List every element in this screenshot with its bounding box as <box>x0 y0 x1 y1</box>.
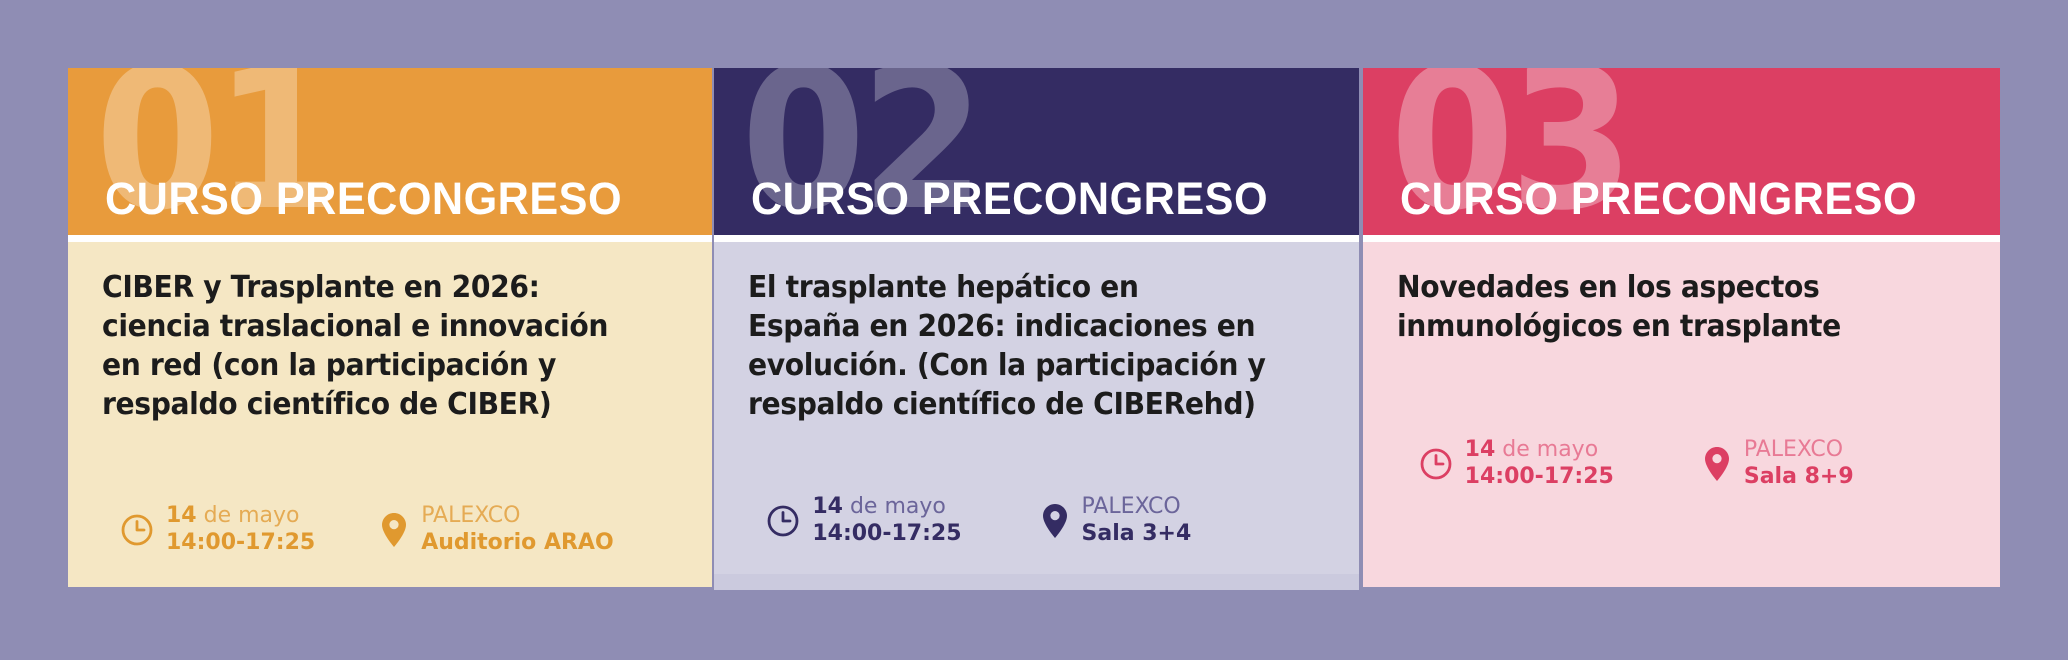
card-header-02: 02 CURSO PRECONGRESO <box>714 68 1358 235</box>
card-kicker-03: CURSO PRECONGRESO <box>1400 176 1917 221</box>
venue-line-01: PALEXCO <box>421 503 613 530</box>
course-card-03[interactable]: 03 CURSO PRECONGRESO Novedades en los as… <box>1363 68 2000 587</box>
venue-line-02: PALEXCO <box>1082 494 1192 521</box>
card-footer-strip-02 <box>714 574 1358 590</box>
card-location-03: PALEXCO Sala 8+9 <box>1702 437 1854 491</box>
room-line-02: Sala 3+4 <box>1082 521 1192 548</box>
card-meta-row-03: 14 de mayo 14:00-17:25 PALEXCO Sala 8+9 <box>1397 437 1970 491</box>
card-header-03: 03 CURSO PRECONGRESO <box>1363 68 2000 235</box>
venue-line-03: PALEXCO <box>1744 437 1854 464</box>
card-title-02: El trasplante hepático en España en 2026… <box>748 268 1290 424</box>
time-line-01: 14:00-17:25 <box>166 530 315 557</box>
course-card-01[interactable]: 01 CURSO PRECONGRESO CIBER y Trasplante … <box>68 68 712 587</box>
card-location-01: PALEXCO Auditorio ARAO <box>379 503 613 557</box>
clock-icon <box>1419 447 1453 481</box>
card-title-03: Novedades en los aspectos inmunológicos … <box>1397 268 1932 346</box>
date-line-02: 14 de mayo <box>812 494 961 521</box>
card-kicker-01: CURSO PRECONGRESO <box>105 176 622 221</box>
card-location-02: PALEXCO Sala 3+4 <box>1040 494 1192 548</box>
datetime-text-03: 14 de mayo 14:00-17:25 <box>1465 437 1614 491</box>
datetime-text-01: 14 de mayo 14:00-17:25 <box>166 503 315 557</box>
card-body-02: El trasplante hepático en España en 2026… <box>714 242 1358 590</box>
card-datetime-01: 14 de mayo 14:00-17:25 <box>120 503 315 557</box>
room-line-01: Auditorio ARAO <box>421 530 613 557</box>
card-meta-row-01: 14 de mayo 14:00-17:25 PALEXCO Auditorio… <box>102 503 682 557</box>
map-pin-icon <box>379 511 409 549</box>
clock-icon <box>120 513 154 547</box>
clock-icon <box>766 504 800 538</box>
card-title-01: CIBER y Trasplante en 2026: ciencia tras… <box>102 268 644 424</box>
location-text-01: PALEXCO Auditorio ARAO <box>421 503 613 557</box>
time-line-03: 14:00-17:25 <box>1465 464 1614 491</box>
map-pin-icon <box>1040 502 1070 540</box>
time-line-02: 14:00-17:25 <box>812 521 961 548</box>
card-body-01: CIBER y Trasplante en 2026: ciencia tras… <box>68 242 712 587</box>
room-line-03: Sala 8+9 <box>1744 464 1854 491</box>
card-kicker-02: CURSO PRECONGRESO <box>751 176 1268 221</box>
map-pin-icon <box>1702 445 1732 483</box>
card-body-03: Novedades en los aspectos inmunológicos … <box>1363 242 2000 587</box>
header-divider-02 <box>714 235 1358 242</box>
date-line-03: 14 de mayo <box>1465 437 1614 464</box>
course-card-02[interactable]: 02 CURSO PRECONGRESO El trasplante hepát… <box>714 68 1358 590</box>
card-datetime-02: 14 de mayo 14:00-17:25 <box>766 494 961 548</box>
card-meta-row-02: 14 de mayo 14:00-17:25 PALEXCO Sala 3+4 <box>748 494 1328 548</box>
location-text-02: PALEXCO Sala 3+4 <box>1082 494 1192 548</box>
location-text-03: PALEXCO Sala 8+9 <box>1744 437 1854 491</box>
date-line-01: 14 de mayo <box>166 503 315 530</box>
header-divider-01 <box>68 235 712 242</box>
precongress-course-cards: 01 CURSO PRECONGRESO CIBER y Trasplante … <box>68 68 2000 590</box>
card-datetime-03: 14 de mayo 14:00-17:25 <box>1419 437 1614 491</box>
header-divider-03 <box>1363 235 2000 242</box>
datetime-text-02: 14 de mayo 14:00-17:25 <box>812 494 961 548</box>
card-header-01: 01 CURSO PRECONGRESO <box>68 68 712 235</box>
